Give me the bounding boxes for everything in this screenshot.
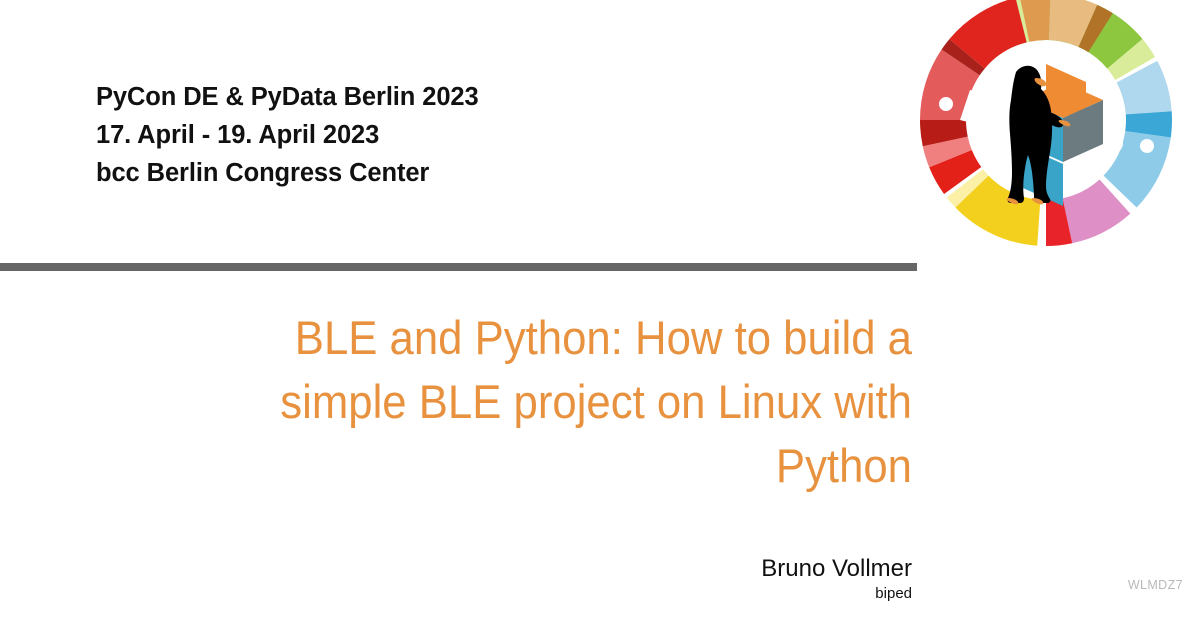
horizontal-divider xyxy=(0,263,917,271)
watermark-code: WLMDZ7 xyxy=(1128,578,1183,592)
speaker-affiliation: biped xyxy=(452,584,912,604)
pycon-de-pydata-berlin-logo-icon xyxy=(920,0,1172,246)
conference-dates-line: 17. April - 19. April 2023 xyxy=(96,116,479,154)
conference-venue-line: bcc Berlin Congress Center xyxy=(96,154,479,192)
slide-canvas: PyCon DE & PyData Berlin 2023 17. April … xyxy=(0,0,1200,630)
speaker-name: Bruno Vollmer xyxy=(452,554,912,584)
conference-name-line: PyCon DE & PyData Berlin 2023 xyxy=(96,78,479,116)
speaker-block: Bruno Vollmer biped xyxy=(452,554,912,604)
talk-title: BLE and Python: How to build a simple BL… xyxy=(213,306,912,498)
conference-info: PyCon DE & PyData Berlin 2023 17. April … xyxy=(96,78,479,192)
logo-accent-dot-left xyxy=(939,97,953,111)
logo-accent-dot-right xyxy=(1140,139,1154,153)
